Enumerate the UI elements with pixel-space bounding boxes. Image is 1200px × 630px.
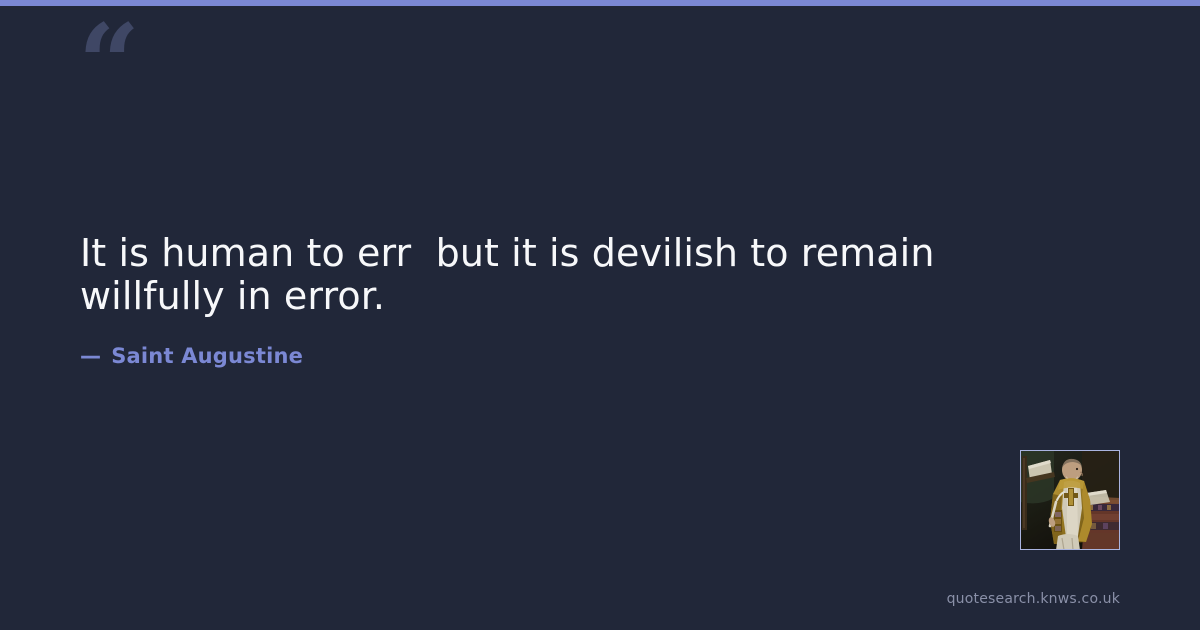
attribution-dash: — — [80, 344, 101, 368]
top-accent-bar — [0, 0, 1200, 6]
attribution-author: Saint Augustine — [111, 344, 303, 368]
quote-text: It is human to err but it is devilish to… — [80, 232, 980, 317]
quote-block: It is human to err but it is devilish to… — [80, 232, 980, 317]
author-thumbnail — [1020, 450, 1120, 550]
source-url: quotesearch.knws.co.uk — [947, 591, 1120, 607]
quote-card: “ It is human to err but it is devilish … — [0, 0, 1200, 630]
author-portrait-image — [1020, 450, 1120, 550]
attribution: — Saint Augustine — [80, 344, 303, 368]
quote-mark-icon: “ — [78, 10, 138, 118]
